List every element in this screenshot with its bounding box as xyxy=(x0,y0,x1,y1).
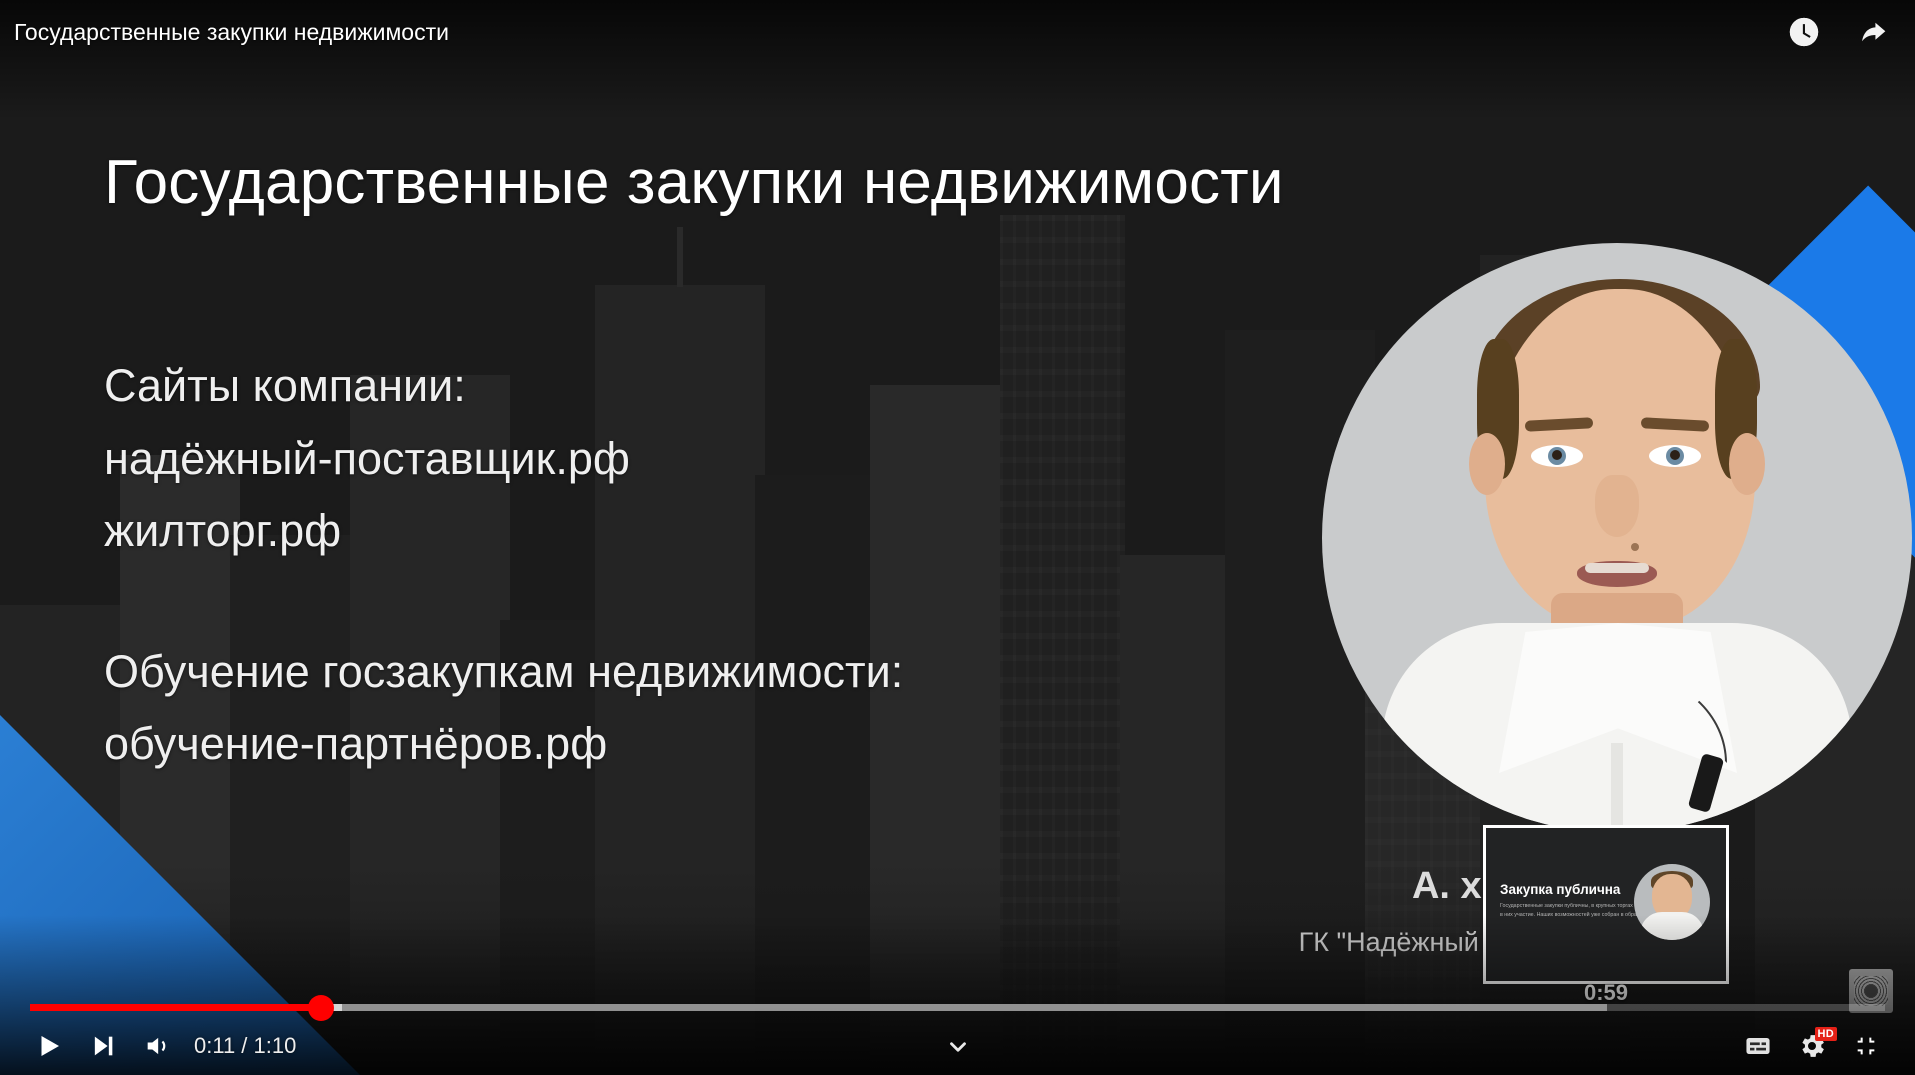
progress-bar[interactable] xyxy=(30,1004,1885,1011)
subtitles-button[interactable] xyxy=(1731,1019,1785,1073)
next-icon xyxy=(89,1032,117,1060)
chevron-down-icon xyxy=(945,1034,971,1060)
presenter-name: А. хин xyxy=(1060,865,1880,908)
presenter-teeth xyxy=(1585,563,1649,573)
time-display: 0:11 / 1:10 xyxy=(194,1033,296,1059)
watch-later-icon[interactable] xyxy=(1787,15,1821,49)
preview-heading: Закупка публична xyxy=(1500,882,1620,897)
presenter-eye-left xyxy=(1531,445,1583,467)
settings-button[interactable]: HD xyxy=(1785,1019,1839,1073)
next-video-button[interactable] xyxy=(76,1019,130,1073)
exit-fullscreen-button[interactable] xyxy=(1839,1019,1893,1073)
player-controls-right: HD xyxy=(1731,1019,1893,1073)
presenter-company: ГК "Надёжный поста лторг" xyxy=(1060,927,1880,958)
slide-sites-heading: Сайты компании: xyxy=(104,360,466,412)
volume-icon xyxy=(143,1032,171,1060)
presenter-eye-right xyxy=(1649,445,1701,467)
preview-thumbnail: Закупка публична Государственные закупки… xyxy=(1486,828,1726,981)
quality-hd-badge: HD xyxy=(1815,1027,1838,1041)
presenter-circle-video xyxy=(1322,243,1912,833)
slide-title: Государственные закупки недвижимости xyxy=(104,147,1284,218)
slide-site-1: надёжный-поставщик.рф xyxy=(104,433,630,485)
play-icon xyxy=(34,1031,64,1061)
slide-training-site: обучение-партнёров.рф xyxy=(104,718,607,770)
expand-description-button[interactable] xyxy=(934,1025,982,1069)
progress-bar-row[interactable] xyxy=(0,999,1915,1015)
play-button[interactable] xyxy=(22,1019,76,1073)
presenter-ear-left xyxy=(1469,433,1505,495)
video-player[interactable]: Государственные закупки недвижимости Сай… xyxy=(0,0,1915,1075)
subtitles-icon xyxy=(1742,1030,1774,1062)
preview-avatar xyxy=(1634,864,1710,940)
volume-button[interactable] xyxy=(130,1019,184,1073)
slide-training-heading: Обучение госзакупкам недвижимости: xyxy=(104,646,903,698)
top-right-actions xyxy=(1787,15,1891,49)
video-title[interactable]: Государственные закупки недвижимости xyxy=(14,19,449,46)
progress-played xyxy=(30,1004,321,1011)
slide-site-2: жилторг.рф xyxy=(104,505,341,557)
share-icon[interactable] xyxy=(1857,15,1891,49)
presenter-ear-right xyxy=(1729,433,1765,495)
presenter-shirt-placket xyxy=(1611,743,1623,833)
player-top-bar: Государственные закупки недвижимости xyxy=(0,0,1915,64)
preview-subtext-line-2: в них участие. Наших возможностей уже со… xyxy=(1500,912,1658,918)
scrubber-preview-tooltip: Закупка публична Государственные закупки… xyxy=(1483,825,1729,984)
presenter-mole xyxy=(1631,543,1639,551)
presenter-nose xyxy=(1595,475,1639,537)
exit-fullscreen-icon xyxy=(1851,1031,1881,1061)
